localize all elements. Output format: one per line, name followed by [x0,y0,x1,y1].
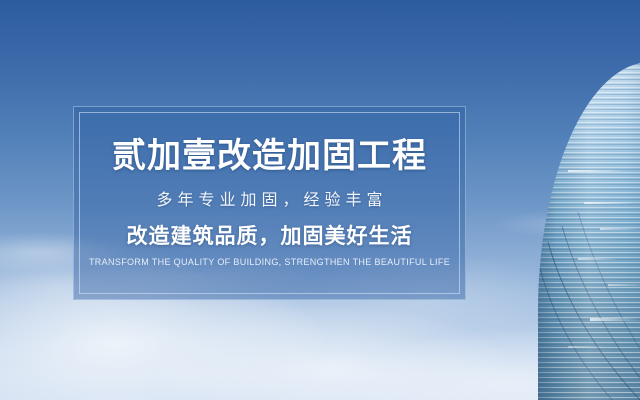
subtitle-text: 多年专业加固，经验丰富 [151,193,387,209]
english-tagline-text: TRANSFORM THE QUALITY OF BUILDING, STREN… [89,258,450,267]
banner-image: 贰加壹改造加固工程 多年专业加固，经验丰富 改造建筑品质，加固美好生活 TRAN… [0,0,640,400]
skyscraper-body [538,62,640,400]
skyscraper [520,0,640,400]
tagline-text: 改造建筑品质，加固美好生活 [127,226,413,247]
headline-panel: 贰加壹改造加固工程 多年专业加固，经验丰富 改造建筑品质，加固美好生活 TRAN… [73,106,466,300]
skyscraper-shading [538,62,640,400]
page-title: 贰加壹改造加固工程 [112,139,427,173]
panel-content: 贰加壹改造加固工程 多年专业加固，经验丰富 改造建筑品质，加固美好生活 TRAN… [74,107,465,299]
